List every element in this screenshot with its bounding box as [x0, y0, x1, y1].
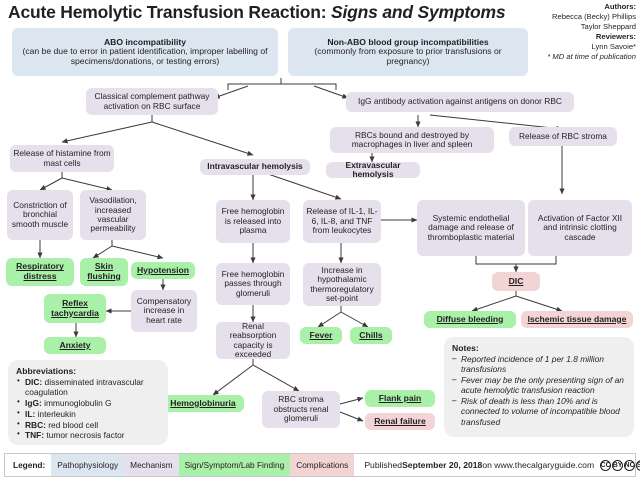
node-extravascular-hemolysis[interactable]: Extravascular hemolysis	[326, 162, 420, 178]
node-label: Free hemoglobin passes through glomeruli	[219, 270, 287, 298]
abbreviation-term: RBC:	[25, 420, 46, 430]
reviewers-label: Reviewers:	[468, 32, 636, 42]
abbreviation-def: tumor necrosis factor	[44, 430, 125, 440]
node-label: Fever	[310, 331, 333, 341]
node-label: Classical complement pathway activation …	[89, 92, 215, 111]
node-label: Chills	[359, 331, 382, 341]
page-title: Acute Hemolytic Transfusion Reaction: Si…	[8, 2, 505, 23]
node-label: Flank pain	[379, 394, 422, 404]
node-igg-antibody-activation[interactable]: IgG antibody activation against antigens…	[346, 92, 574, 112]
legend-item-label: Sign/Symptom/Lab Finding	[185, 460, 285, 470]
diagram-canvas: Acute Hemolytic Transfusion Reaction: Si…	[0, 0, 640, 479]
node-label: Systemic endothelial damage and release …	[420, 214, 522, 242]
notes-title: Notes:	[452, 343, 626, 353]
node-dic[interactable]: DIC	[492, 272, 540, 291]
legend-item-pathophysiology[interactable]: Pathophysiology	[51, 454, 124, 476]
node-label: Activation of Factor XII and intrinsic c…	[531, 214, 629, 242]
abbreviation-term: DIC:	[25, 377, 42, 387]
node-label: Increase in hypothalamic thermoregulator…	[306, 266, 378, 304]
abbreviation-item: IgG: immunoglobulin G	[16, 398, 160, 408]
abbreviation-item: DIC: disseminated intravascular coagulat…	[16, 377, 160, 398]
node-label: RBCs bound and destroyed by macrophages …	[333, 131, 491, 150]
node-compensatory-heart-rate[interactable]: Compensatory increase in heart rate	[131, 290, 197, 332]
abbreviations-box: Abbreviations: DIC: disseminated intrava…	[8, 360, 168, 445]
title-main: Acute Hemolytic Transfusion Reaction:	[8, 2, 326, 22]
legend-item-mechanism[interactable]: Mechanism	[124, 454, 178, 476]
node-fever[interactable]: Fever	[300, 327, 342, 344]
note-item: Reported incidence of 1 per 1.8 million …	[452, 354, 626, 375]
abbreviation-item: TNF: tumor necrosis factor	[16, 430, 160, 440]
node-abo-incompatibility[interactable]: ABO incompatibility (can be due to error…	[12, 28, 278, 76]
cc-nc-icon: NC	[624, 460, 635, 471]
abbreviation-item: RBC: red blood cell	[16, 420, 160, 430]
node-label: Skin flushing	[83, 262, 125, 281]
node-label: Compensatory increase in heart rate	[134, 297, 194, 325]
node-label: Ischemic tissue damage	[528, 315, 627, 325]
node-label: Diffuse bleeding	[437, 315, 504, 325]
node-diffuse-bleeding[interactable]: Diffuse bleeding	[424, 311, 516, 328]
reviewer-name: Lynn Savoie*	[468, 42, 636, 52]
abbreviation-def: red blood cell	[46, 420, 98, 430]
legend-item-label: Mechanism	[130, 460, 172, 470]
node-cytokine-release[interactable]: Release of IL-1, IL-6, IL-8, and TNF fro…	[303, 200, 381, 243]
node-label: Extravascular hemolysis	[329, 161, 417, 180]
note-item: Risk of death is less than 10% and is co…	[452, 396, 626, 427]
node-factor-xii-activation[interactable]: Activation of Factor XII and intrinsic c…	[528, 200, 632, 256]
node-intravascular-hemolysis[interactable]: Intravascular hemolysis	[200, 159, 310, 175]
node-flank-pain[interactable]: Flank pain	[365, 390, 435, 407]
node-label: Respiratory distress	[9, 262, 71, 281]
published-prefix: Published	[364, 460, 402, 470]
node-renal-failure[interactable]: Renal failure	[365, 413, 435, 430]
cc-by-icon: BY	[612, 460, 623, 471]
node-label: Constriction of bronchial smooth muscle	[10, 201, 70, 229]
node-free-hemoglobin-glomeruli[interactable]: Free hemoglobin passes through glomeruli	[216, 263, 290, 305]
notes-list: Reported incidence of 1 per 1.8 million …	[452, 354, 626, 427]
cc-icon: CC	[600, 460, 611, 471]
node-label: Renal reabsorption capacity is exceeded	[219, 322, 287, 360]
node-reflex-tachycardia[interactable]: Reflex tachycardia	[44, 294, 106, 323]
abbreviation-item: IL: interleukin	[16, 409, 160, 419]
abbreviation-term: IgG:	[25, 398, 42, 408]
node-vasodilation[interactable]: Vasodilation, increased vascular permeab…	[80, 190, 146, 240]
legend-item-complications[interactable]: Complications	[290, 454, 354, 476]
abbreviation-def: interleukin	[35, 409, 76, 419]
authors-label: Authors:	[468, 2, 636, 12]
abbreviations-list: DIC: disseminated intravascular coagulat…	[16, 377, 160, 441]
node-label: Anxiety	[59, 341, 90, 351]
creative-commons-badge[interactable]: CC BY NC SA	[600, 454, 640, 476]
node-renal-reabsorption-exceeded[interactable]: Renal reabsorption capacity is exceeded	[216, 322, 290, 359]
node-label: Hemoglobinuria	[170, 399, 235, 409]
node-label: Intravascular hemolysis	[207, 162, 302, 171]
cc-sa-icon: SA	[636, 460, 640, 471]
node-free-hemoglobin-plasma[interactable]: Free hemoglobin is released into plasma	[216, 200, 290, 243]
abbreviation-def: disseminated intravascular coagulation	[25, 377, 144, 397]
node-label: Release of RBC stroma	[519, 132, 607, 141]
author-name: Taylor Sheppard	[468, 22, 636, 32]
node-label: Renal failure	[374, 417, 426, 427]
legend-label: Legend:	[5, 454, 51, 476]
node-classical-complement-pathway[interactable]: Classical complement pathway activation …	[86, 88, 218, 115]
authors-block: Authors: Rebecca (Becky) Phillips Taylor…	[468, 2, 636, 63]
authors-footnote: * MD at time of publication	[468, 52, 636, 62]
node-release-rbc-stroma[interactable]: Release of RBC stroma	[509, 127, 617, 146]
author-name: Rebecca (Becky) Phillips	[468, 12, 636, 22]
legend-item-label: Pathophysiology	[57, 460, 118, 470]
node-ischemic-tissue-damage[interactable]: Ischemic tissue damage	[521, 311, 633, 328]
node-hypothalamic-setpoint[interactable]: Increase in hypothalamic thermoregulator…	[303, 263, 381, 306]
node-hypotension[interactable]: Hypotension	[131, 262, 195, 279]
node-respiratory-distress[interactable]: Respiratory distress	[6, 258, 74, 286]
node-label: Release of histamine from mast cells	[13, 149, 111, 168]
node-label: Hypotension	[137, 266, 189, 276]
node-label: Free hemoglobin is released into plasma	[219, 207, 287, 235]
node-label: IgG antibody activation against antigens…	[358, 97, 562, 106]
node-skin-flushing[interactable]: Skin flushing	[80, 258, 128, 286]
node-rbcs-bound-destroyed[interactable]: RBCs bound and destroyed by macrophages …	[330, 127, 494, 153]
abbreviation-def: immunoglobulin G	[42, 398, 112, 408]
legend-bar: Legend: Pathophysiology Mechanism Sign/S…	[4, 453, 636, 477]
node-label: Release of IL-1, IL-6, IL-8, and TNF fro…	[306, 207, 378, 235]
legend-item-sign-symptom[interactable]: Sign/Symptom/Lab Finding	[179, 454, 291, 476]
node-hemoglobinuria[interactable]: Hemoglobinuria	[162, 395, 244, 412]
node-release-histamine[interactable]: Release of histamine from mast cells	[10, 145, 114, 172]
published-suffix: on www.thecalgaryguide.com	[482, 460, 594, 470]
notes-box: Notes: Reported incidence of 1 per 1.8 m…	[444, 337, 634, 437]
node-systemic-endothelial-damage[interactable]: Systemic endothelial damage and release …	[417, 200, 525, 256]
node-label: DIC	[509, 277, 524, 287]
published-date: September 20, 2018	[402, 460, 482, 470]
node-chills[interactable]: Chills	[350, 327, 392, 344]
node-label: Vasodilation, increased vascular permeab…	[83, 196, 143, 234]
abbreviation-term: IL:	[25, 409, 35, 419]
node-anxiety[interactable]: Anxiety	[44, 337, 106, 354]
note-item: Fever may be the only presenting sign of…	[452, 375, 626, 396]
node-bronchial-constriction[interactable]: Constriction of bronchial smooth muscle	[7, 190, 73, 240]
node-label: Reflex tachycardia	[47, 299, 103, 318]
abbreviation-term: TNF:	[25, 430, 44, 440]
legend-item-label: Complications	[296, 460, 348, 470]
publication-info: Published September 20, 2018 on www.thec…	[354, 454, 600, 476]
node-rbc-stroma-obstructs[interactable]: RBC stroma obstructs renal glomeruli	[262, 391, 340, 428]
node-label: RBC stroma obstructs renal glomeruli	[265, 395, 337, 423]
node-abo-subtitle: (can be due to error in patient identifi…	[15, 47, 275, 66]
abbreviations-title: Abbreviations:	[16, 366, 160, 376]
